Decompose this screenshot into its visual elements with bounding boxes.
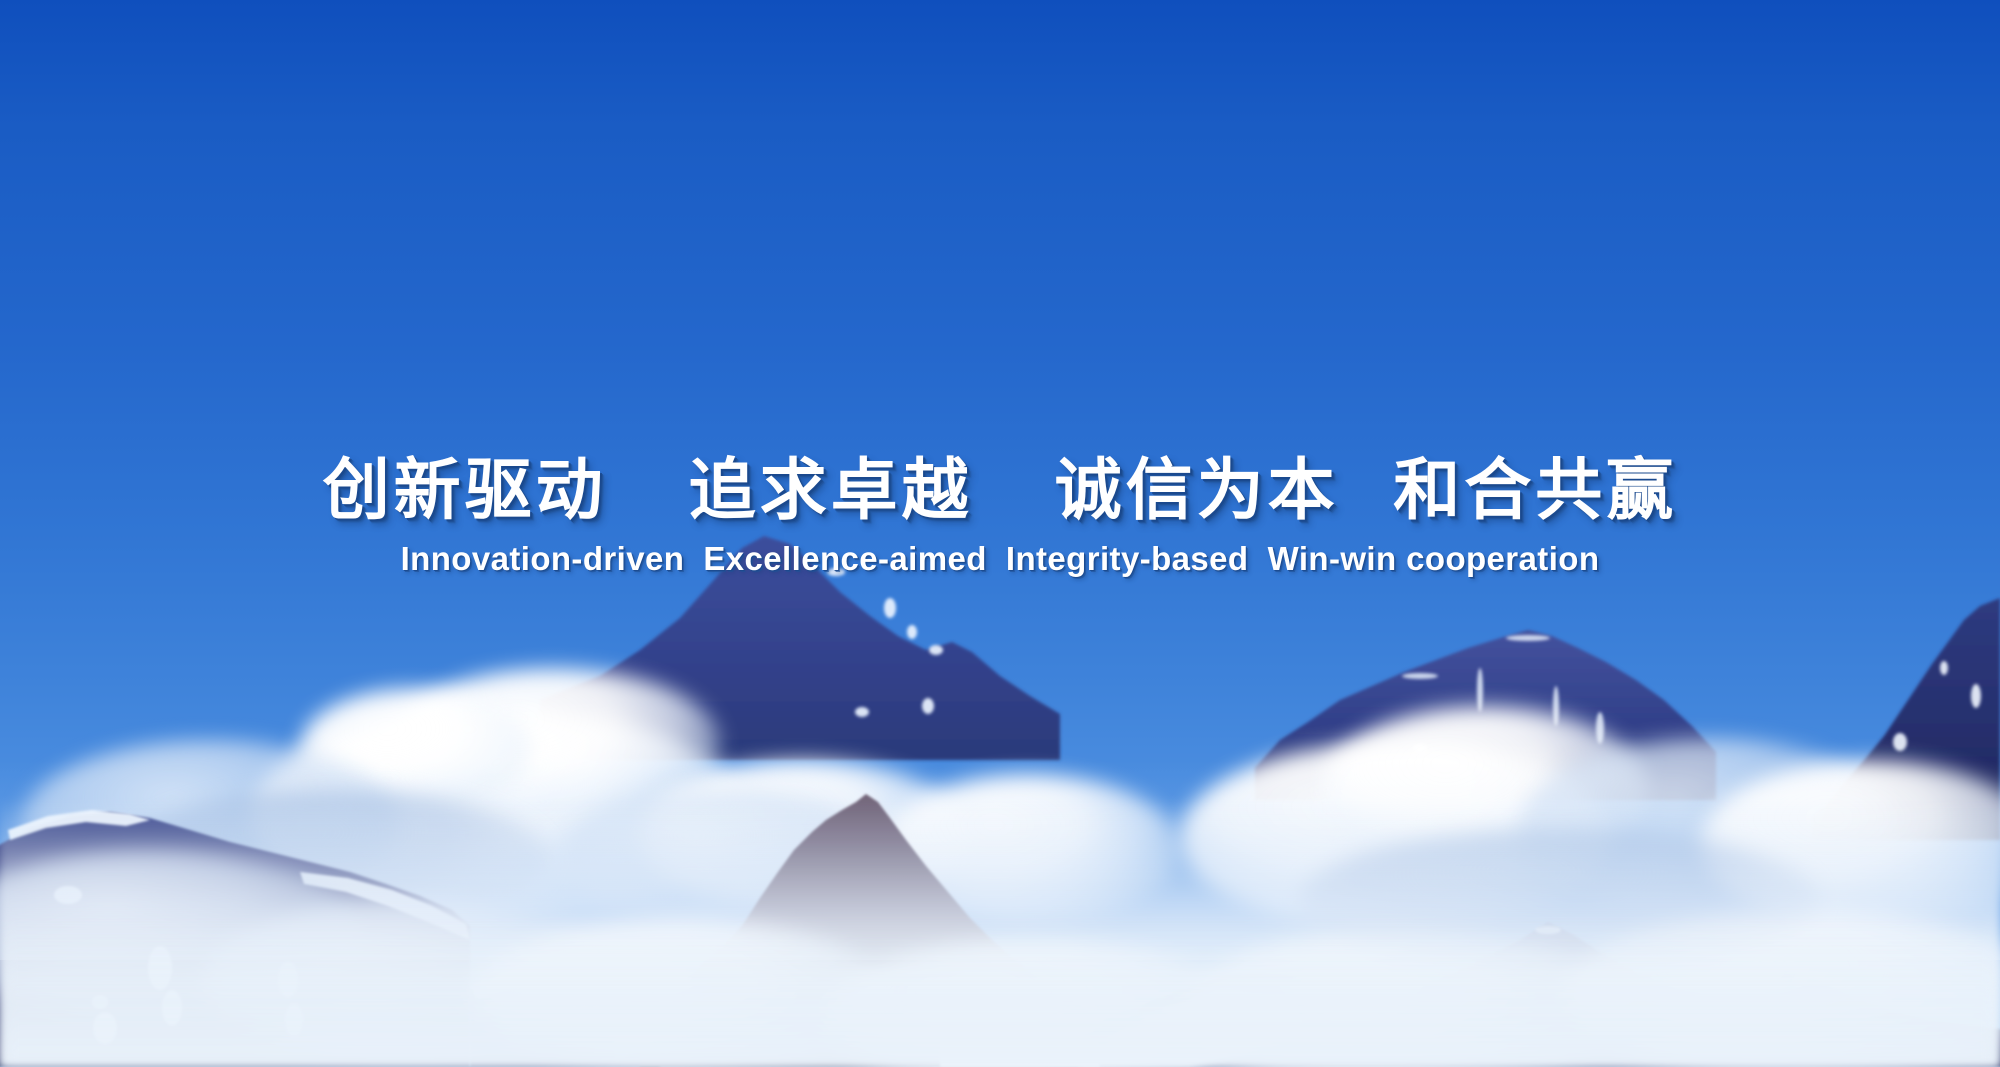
slogan-block: 创新驱动 追求卓越 诚信为本 和合共赢 Innovation-driven Ex… xyxy=(0,452,2000,578)
slogan-english: Innovation-driven Excellence-aimed Integ… xyxy=(0,540,2000,578)
slogan-chinese: 创新驱动 追求卓越 诚信为本 和合共赢 xyxy=(0,452,2000,530)
mountain-range-near xyxy=(0,690,2000,1067)
ridge-left-foreground xyxy=(0,812,470,1067)
banner-stage: 创新驱动 追求卓越 诚信为本 和合共赢 Innovation-driven Ex… xyxy=(0,0,2000,1067)
peak-center-brown xyxy=(640,794,1100,1067)
